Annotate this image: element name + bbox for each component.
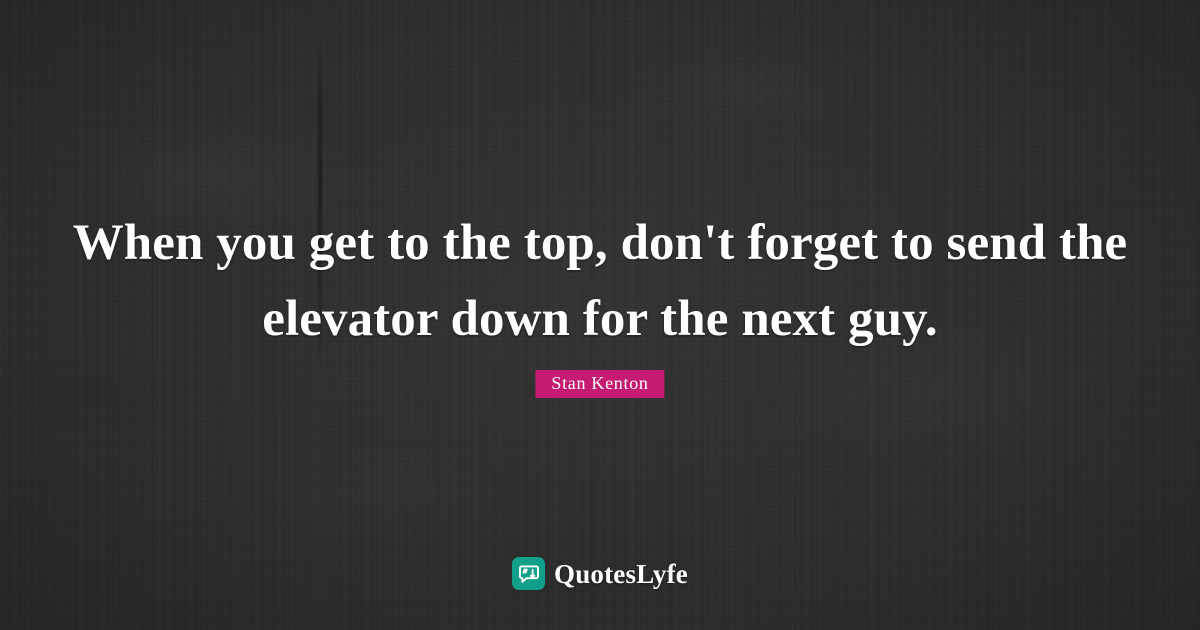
author-badge: Stan Kenton bbox=[535, 370, 664, 398]
brand-logo[interactable]: QuotesLyfe bbox=[512, 557, 688, 590]
quote-bubble-icon bbox=[512, 557, 545, 590]
quote-text: When you get to the top, don't forget to… bbox=[60, 205, 1140, 357]
quote-card: When you get to the top, don't forget to… bbox=[0, 0, 1200, 630]
card-content: When you get to the top, don't forget to… bbox=[0, 0, 1200, 630]
brand-name: QuotesLyfe bbox=[554, 559, 688, 589]
